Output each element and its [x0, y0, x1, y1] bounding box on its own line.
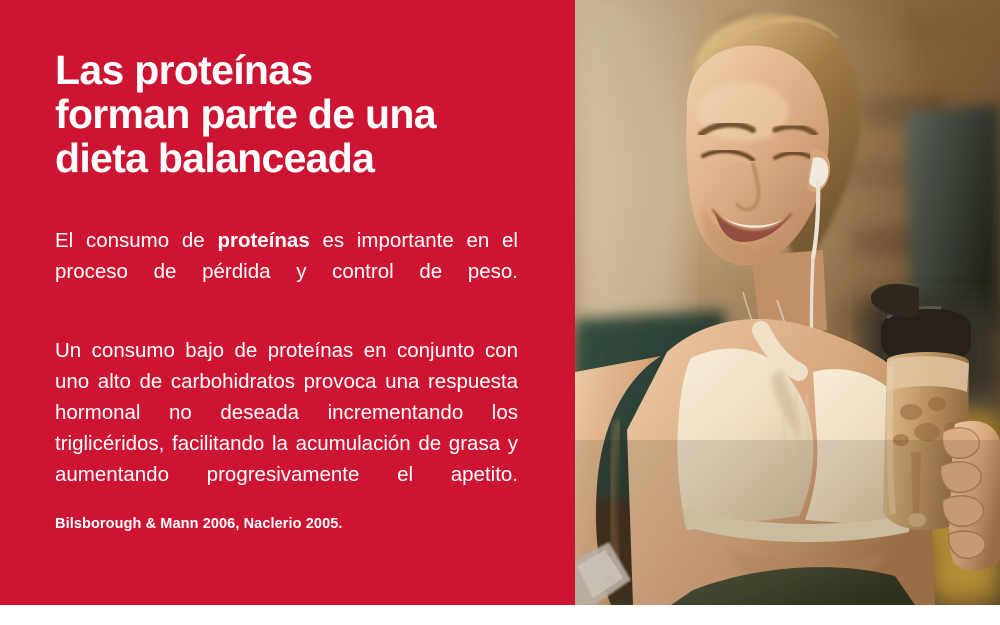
- body-paragraph-2: Un consumo bajo de proteínas en conjunto…: [55, 335, 518, 521]
- fitness-photo-illustration: [575, 0, 1000, 605]
- fitness-photo: [575, 0, 1000, 605]
- body-paragraph-1: El consumo de proteínas es importante en…: [55, 225, 518, 318]
- headline-line-1: Las proteínas: [55, 48, 535, 92]
- red-content-panel: Las proteínas forman parte de una dieta …: [0, 0, 575, 605]
- headline-line-2: forman parte de una: [55, 92, 535, 136]
- page-title: Las proteínas forman parte de una dieta …: [55, 48, 535, 180]
- paragraph-1-text-before-bold: El consumo de: [55, 229, 217, 252]
- headline-line-3: dieta balanceada: [55, 136, 535, 180]
- citation-reference: Bilsborough & Mann 2006, Naclerio 2005.: [55, 516, 525, 532]
- paragraph-1-emphasis: proteínas: [217, 229, 309, 252]
- promo-banner: Las proteínas forman parte de una dieta …: [0, 0, 1000, 605]
- vignette-bottom: [575, 440, 1000, 605]
